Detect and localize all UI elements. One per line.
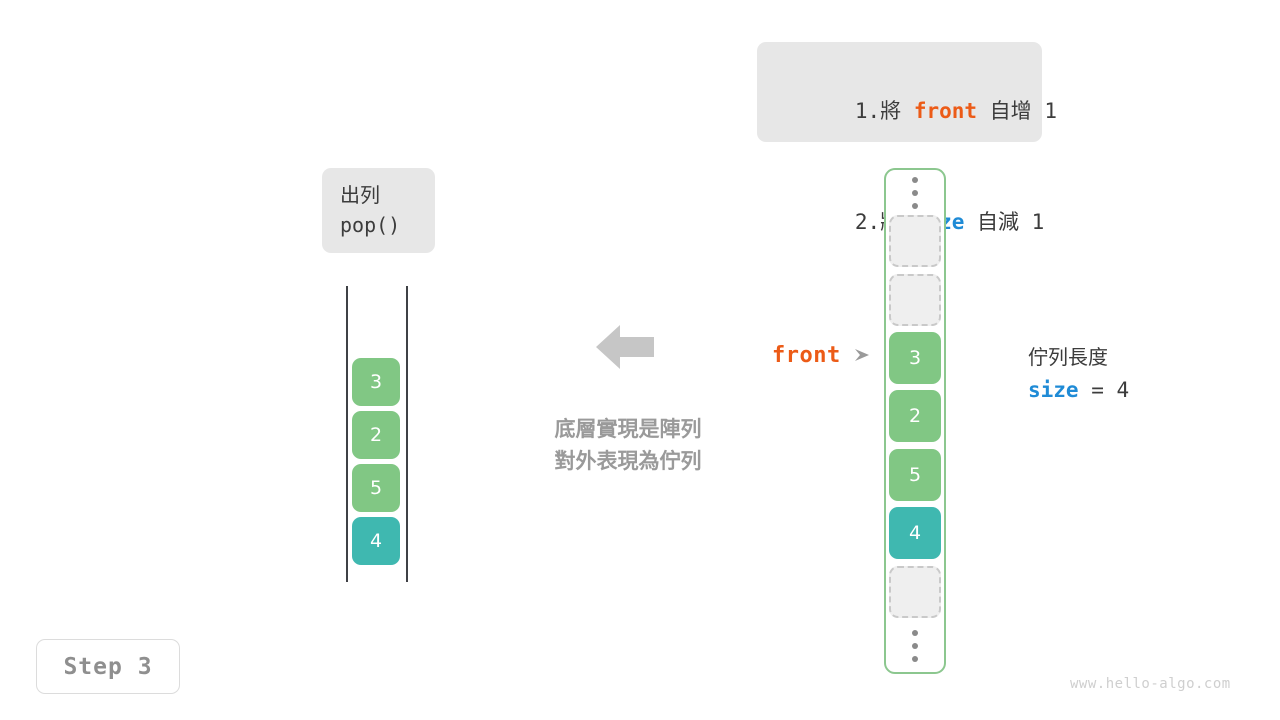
queue-cell: 3 (352, 358, 400, 406)
pop-code: pop() (340, 210, 435, 240)
array-cell: 4 (889, 507, 941, 559)
array-cell: 2 (889, 390, 941, 442)
center-annotation: 底層實現是陣列 對外表現為佇列 (528, 413, 728, 477)
array-cell-empty (889, 215, 941, 267)
queue-rail-right (406, 286, 408, 582)
diagram-canvas: 1.將 front 自增 1 2.將 size 自減 1 出列 pop() 3 … (0, 0, 1280, 720)
array-bottom-ellipsis-icon (909, 630, 921, 662)
center-annotation-line-2: 對外表現為佇列 (528, 445, 728, 477)
array-top-ellipsis-icon (909, 177, 921, 209)
size-value: 4 (1117, 378, 1130, 402)
operation-line-1: 1.將 front 自增 1 (779, 56, 1020, 167)
queue-cell: 5 (352, 464, 400, 512)
operation-line-2-suffix: 自減 1 (964, 210, 1044, 234)
array-cell-empty (889, 274, 941, 326)
queue-size-title: 佇列長度 (1028, 341, 1129, 373)
operation-line-2-index: 2. (855, 210, 880, 234)
left-arrow-icon (596, 323, 654, 371)
step-badge: Step 3 (36, 639, 180, 694)
queue-cell: 4 (352, 517, 400, 565)
array-cell: 3 (889, 332, 941, 384)
operation-description-box: 1.將 front 自增 1 2.將 size 自減 1 (757, 42, 1042, 142)
queue-size-note: 佇列長度 size = 4 (1028, 341, 1129, 407)
front-pointer-label: front (772, 343, 841, 368)
center-annotation-line-1: 底層實現是陣列 (528, 413, 728, 445)
array-cell: 5 (889, 449, 941, 501)
operation-line-1-index: 1. (855, 99, 880, 123)
array-cell-empty (889, 566, 941, 618)
operation-line-1-prefix: 將 (880, 99, 914, 123)
queue-rail-left (346, 286, 348, 582)
size-keyword-value: size (1028, 378, 1079, 402)
watermark: www.hello-algo.com (1070, 676, 1231, 692)
size-equals: = (1079, 378, 1117, 402)
operation-line-1-suffix: 自增 1 (977, 99, 1057, 123)
pop-title: 出列 (340, 180, 435, 210)
queue-cell: 2 (352, 411, 400, 459)
pop-operation-label: 出列 pop() (322, 168, 435, 253)
front-keyword: front (914, 99, 977, 123)
queue-size-expression: size = 4 (1028, 373, 1129, 407)
front-pointer-arrow-icon (855, 348, 871, 362)
